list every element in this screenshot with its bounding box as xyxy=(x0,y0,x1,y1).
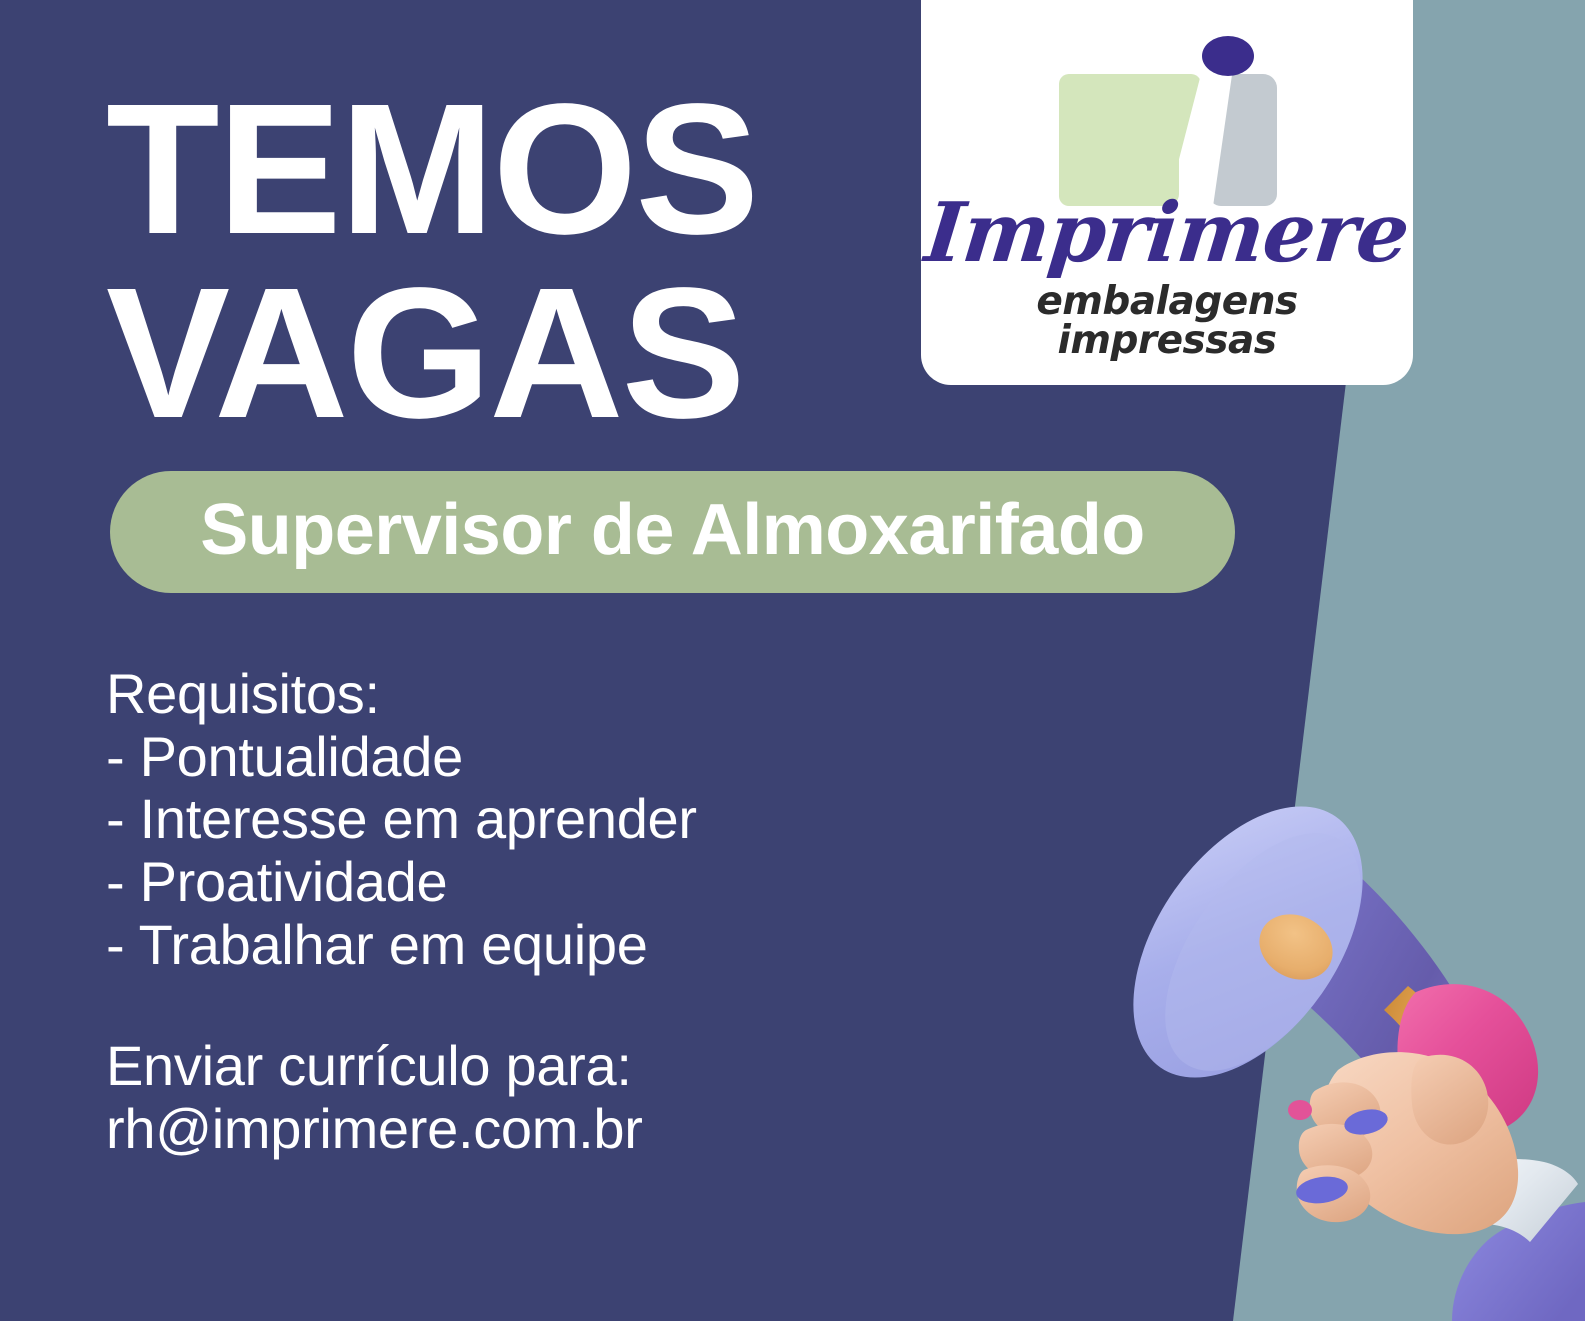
requirements-heading: Requisitos: xyxy=(106,663,697,726)
brand-name: Imprimere xyxy=(921,192,1413,274)
brand-tagline: embalagens impressas xyxy=(921,282,1413,360)
job-title-label: Supervisor de Almoxarifado xyxy=(200,494,1145,570)
list-item: - Trabalhar em equipe xyxy=(106,914,697,977)
job-title-badge: Supervisor de Almoxarifado xyxy=(110,471,1235,593)
contact-section: Enviar currículo para: rh@imprimere.com.… xyxy=(106,1035,643,1160)
company-logo-card: Imprimere embalagens impressas xyxy=(921,0,1413,385)
page-title: TEMOS VAGAS xyxy=(106,78,757,446)
job-posting-poster: Imprimere embalagens impressas TEMOS VAG… xyxy=(0,0,1585,1321)
contact-call-to-action: Enviar currículo para: xyxy=(106,1035,643,1098)
logo-mark xyxy=(921,16,1413,206)
requirements-section: Requisitos: - Pontualidade - Interesse e… xyxy=(106,663,697,977)
list-item: - Pontualidade xyxy=(106,726,697,789)
requirements-list: - Pontualidade - Interesse em aprender -… xyxy=(106,726,697,977)
contact-email[interactable]: rh@imprimere.com.br xyxy=(106,1098,643,1161)
logo-dot-icon xyxy=(1202,36,1254,76)
list-item: - Proatividade xyxy=(106,851,697,914)
list-item: - Interesse em aprender xyxy=(106,788,697,851)
